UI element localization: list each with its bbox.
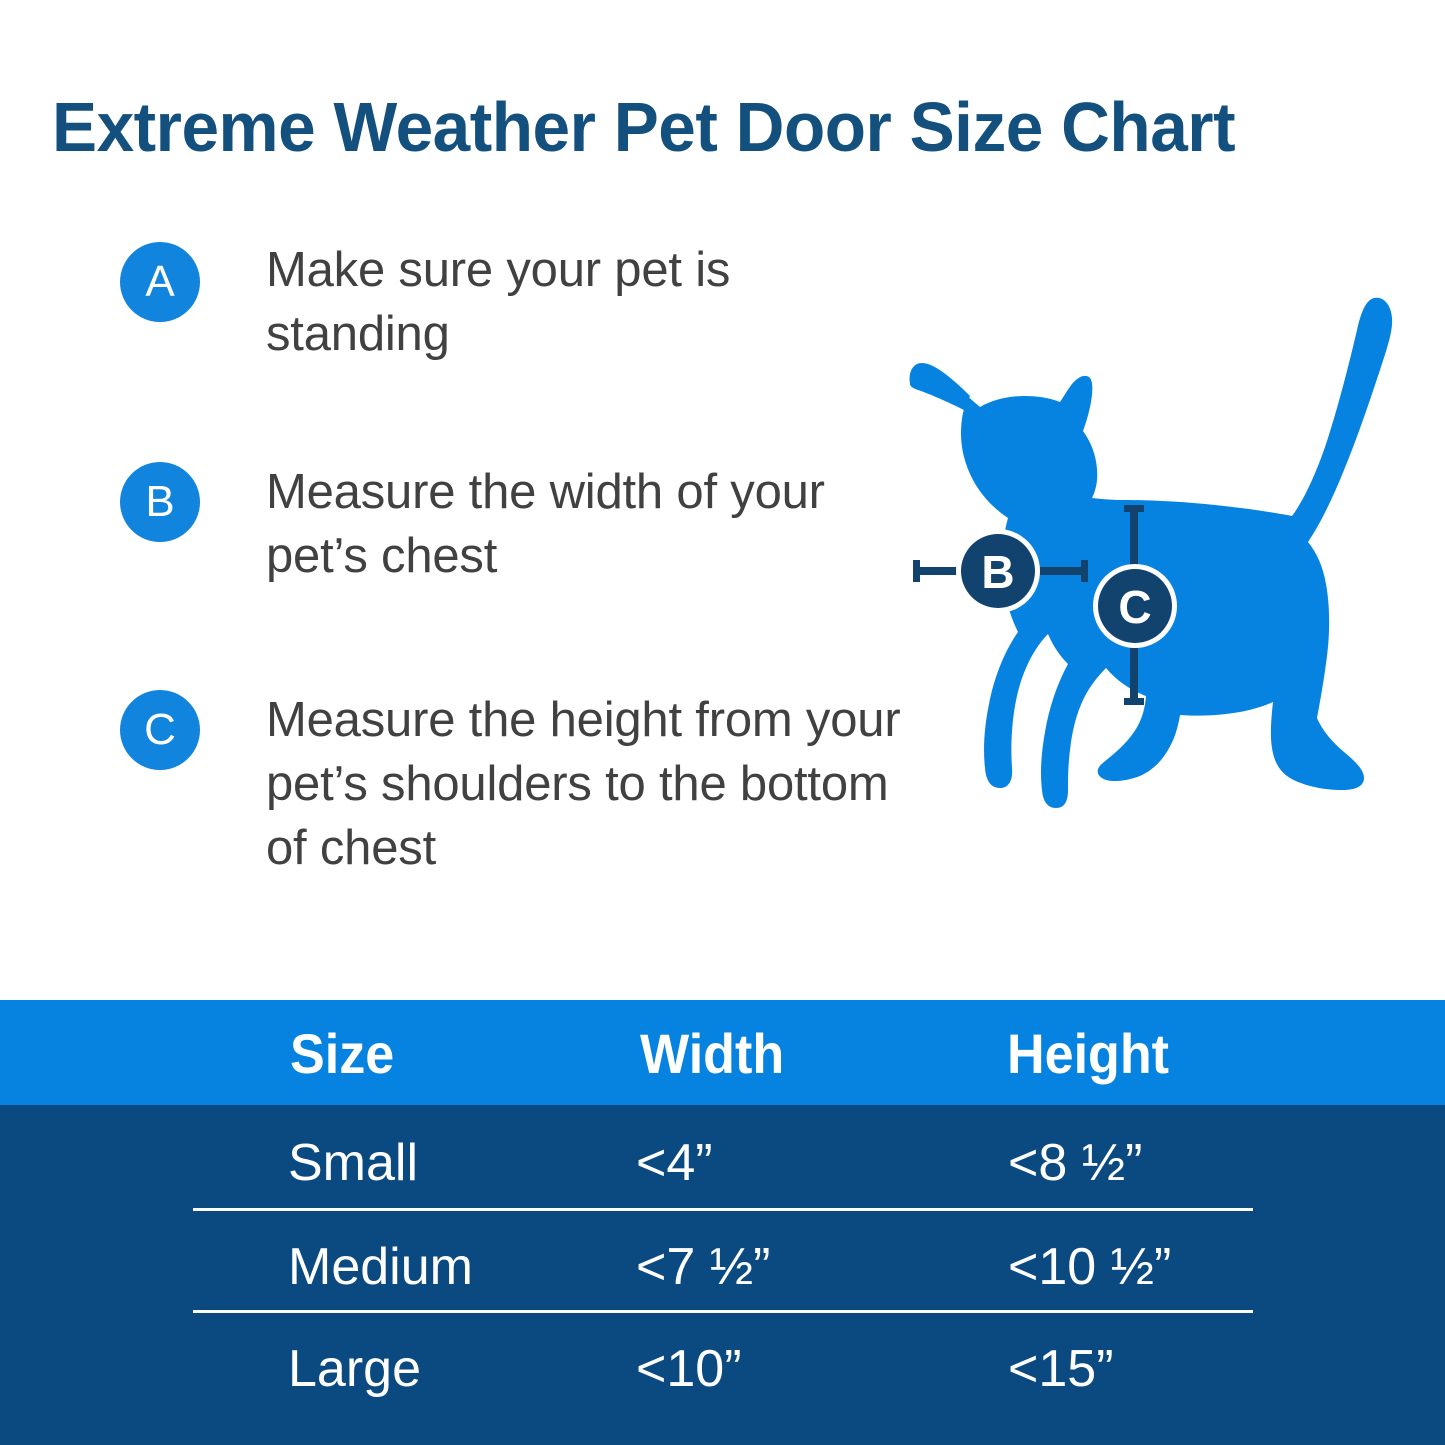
badge-a: A (120, 242, 200, 322)
marker-c-label: C (1118, 581, 1151, 633)
marker-b: B (956, 529, 1040, 613)
instruction-item-c: C Measure the height from your pet’s sho… (120, 688, 910, 918)
badge-c: C (120, 690, 200, 770)
size-chart-page: Extreme Weather Pet Door Size Chart A Ma… (0, 0, 1445, 1445)
table-header-row: Size Width Height (0, 1000, 1445, 1105)
instruction-text-c: Measure the height from your pet’s shoul… (266, 688, 910, 880)
page-title: Extreme Weather Pet Door Size Chart (52, 88, 1355, 166)
cell-width-large: <10” (636, 1337, 956, 1401)
row-divider (193, 1310, 1253, 1313)
instruction-item-a: A Make sure your pet is standing (120, 238, 910, 460)
cell-size-large: Large (288, 1337, 421, 1401)
cell-height-medium: <10 ½” (1008, 1235, 1338, 1299)
table-body: Small <4” <8 ½” Medium <7 ½” <10 ½” Larg… (0, 1105, 1445, 1445)
instruction-text-b: Measure the width of your pet’s chest (266, 460, 910, 588)
column-header-height: Height (1007, 1024, 1169, 1084)
marker-c: C (1093, 564, 1177, 648)
instruction-list: A Make sure your pet is standing B Measu… (120, 238, 910, 918)
row-divider (193, 1208, 1253, 1211)
table-row: Small <4” <8 ½” (0, 1113, 1445, 1213)
size-table: Size Width Height Small <4” <8 ½” Medium… (0, 1000, 1445, 1445)
cat-silhouette-illustration: B C (880, 250, 1410, 850)
cell-size-small: Small (288, 1131, 418, 1195)
table-row: Large <10” <15” (0, 1319, 1445, 1419)
cell-size-medium: Medium (288, 1235, 473, 1299)
badge-b: B (120, 462, 200, 542)
marker-b-label: B (981, 546, 1014, 598)
cell-width-medium: <7 ½” (636, 1235, 956, 1299)
column-header-size: Size (290, 1024, 394, 1084)
table-row: Medium <7 ½” <10 ½” (0, 1217, 1445, 1317)
cell-height-small: <8 ½” (1008, 1131, 1338, 1195)
cell-height-large: <15” (1008, 1337, 1338, 1401)
column-header-width: Width (640, 1024, 784, 1084)
instruction-text-a: Make sure your pet is standing (266, 238, 910, 366)
cell-width-small: <4” (636, 1131, 956, 1195)
instruction-item-b: B Measure the width of your pet’s chest (120, 460, 910, 688)
